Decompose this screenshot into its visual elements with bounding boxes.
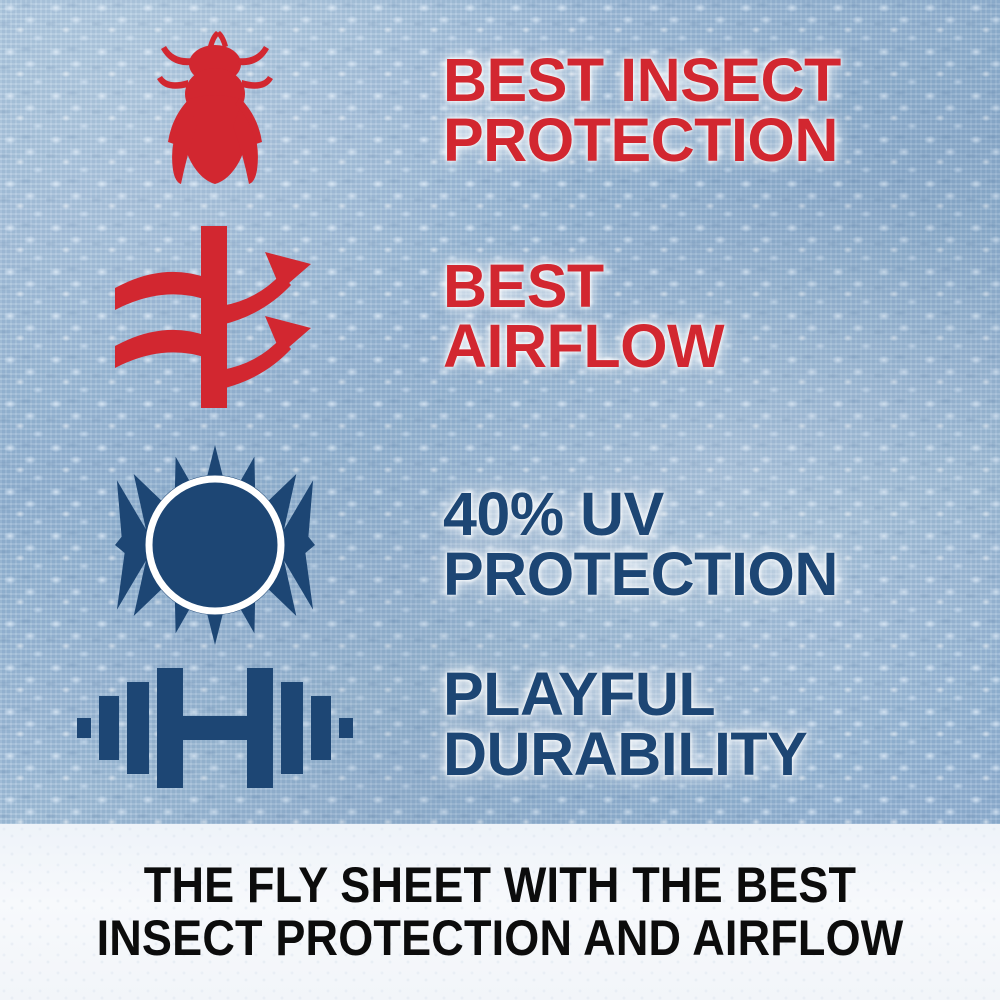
sun-uv-icon — [113, 443, 317, 647]
feature-label-insect-protection: BEST INSECT PROTECTION — [443, 51, 1000, 171]
feature-text-cell: BEST INSECT PROTECTION — [430, 51, 1000, 171]
dumbbell-icon — [77, 664, 353, 792]
feature-text-cell: PLAYFUL DURABILITY — [430, 665, 1000, 785]
feature-icon-cell — [0, 443, 430, 647]
caption-headline: THE FLY SHEET WITH THE BEST INSECT PROTE… — [68, 859, 932, 966]
feature-icon-cell — [0, 224, 430, 410]
feature-row-airflow: BEST AIRFLOW — [0, 222, 1000, 412]
feature-row-insect-protection: BEST INSECT PROTECTION — [0, 18, 1000, 203]
feature-row-durability: PLAYFUL DURABILITY — [0, 650, 1000, 800]
fly-icon — [140, 22, 290, 200]
feature-text-cell: 40% UV PROTECTION — [430, 485, 1000, 605]
feature-label-durability: PLAYFUL DURABILITY — [443, 665, 1000, 785]
feature-icon-cell — [0, 22, 430, 200]
feature-row-uv-protection: 40% UV PROTECTION — [0, 440, 1000, 650]
feature-icon-cell — [0, 658, 430, 792]
product-feature-infographic: BEST INSECT PROTECTION — [0, 0, 1000, 1000]
feature-label-uv-protection: 40% UV PROTECTION — [443, 485, 1000, 605]
feature-text-cell: BEST AIRFLOW — [430, 257, 1000, 377]
airflow-icon — [107, 224, 323, 410]
caption-band: THE FLY SHEET WITH THE BEST INSECT PROTE… — [0, 824, 1000, 1000]
feature-list: BEST INSECT PROTECTION — [0, 0, 1000, 824]
feature-label-airflow: BEST AIRFLOW — [443, 257, 1000, 377]
